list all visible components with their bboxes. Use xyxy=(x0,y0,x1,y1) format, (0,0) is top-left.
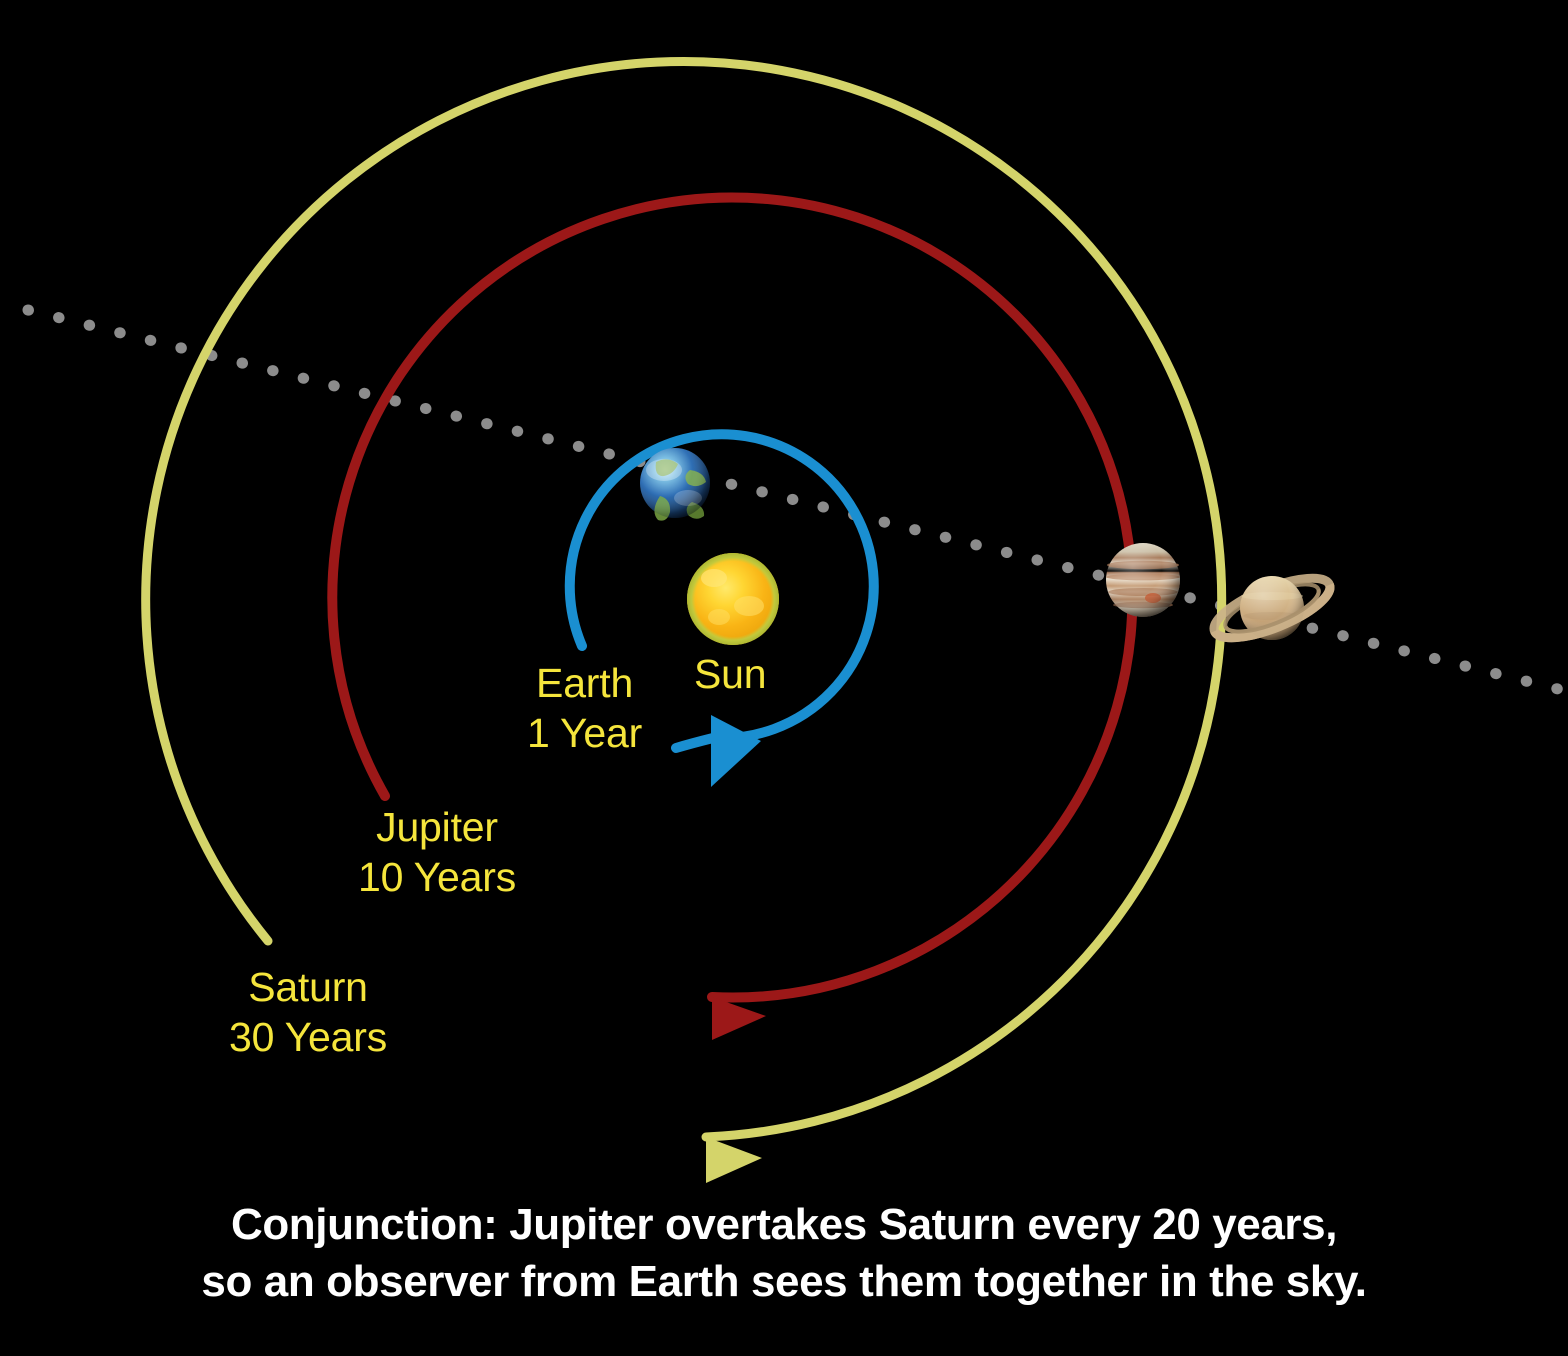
diagram-canvas: Sun Earth 1 Year Jupiter 10 Years Saturn… xyxy=(0,0,1568,1356)
jupiter-body xyxy=(1106,543,1180,617)
saturn-body xyxy=(1207,566,1337,650)
diagram-caption: Conjunction: Jupiter overtakes Saturn ev… xyxy=(0,1196,1568,1310)
earth-body xyxy=(640,448,710,521)
caption-line-2: so an observer from Earth sees them toge… xyxy=(0,1253,1568,1310)
orbit-saturn xyxy=(146,61,1222,1183)
caption-line-1: Conjunction: Jupiter overtakes Saturn ev… xyxy=(0,1196,1568,1253)
sun-body xyxy=(687,553,779,645)
orbit-arrow-saturn xyxy=(706,1137,762,1183)
orbit-arrow-earth xyxy=(711,715,761,787)
orbit-arrow-jupiter xyxy=(712,997,766,1040)
sightline-dotted xyxy=(28,310,1562,690)
orbit-diagram-svg xyxy=(0,0,1568,1356)
